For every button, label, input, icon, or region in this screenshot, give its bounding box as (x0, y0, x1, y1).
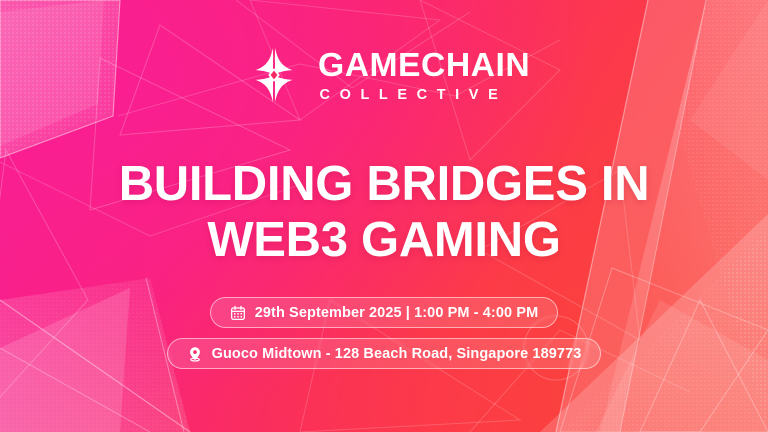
brand-logo: GAMECHAIN COLLECTIVE (0, 44, 768, 106)
brand-wordmark: GAMECHAIN COLLECTIVE (318, 48, 526, 103)
brand-subtitle: COLLECTIVE (318, 88, 508, 103)
calendar-icon (230, 305, 246, 321)
headline-line-1: BUILDING BRIDGES IN (119, 157, 650, 211)
date-time-text: 29th September 2025 | 1:00 PM - 4:00 PM (255, 305, 539, 321)
date-time-pill: 29th September 2025 | 1:00 PM - 4:00 PM (210, 297, 559, 328)
page-title: BUILDING BRIDGES IN WEB3 GAMING (0, 157, 768, 269)
event-banner: GAMECHAIN COLLECTIVE BUILDING BRIDGES IN… (0, 0, 768, 432)
four-point-star-shuriken-icon (243, 44, 305, 106)
location-pill: Guoco Midtown - 128 Beach Road, Singapor… (167, 338, 602, 369)
location-text: Guoco Midtown - 128 Beach Road, Singapor… (212, 346, 582, 362)
location-pin-icon (187, 346, 203, 362)
brand-name: GAMECHAIN (318, 48, 530, 81)
headline-line-2: WEB3 GAMING (0, 213, 768, 269)
event-details: 29th September 2025 | 1:00 PM - 4:00 PM … (0, 297, 768, 369)
